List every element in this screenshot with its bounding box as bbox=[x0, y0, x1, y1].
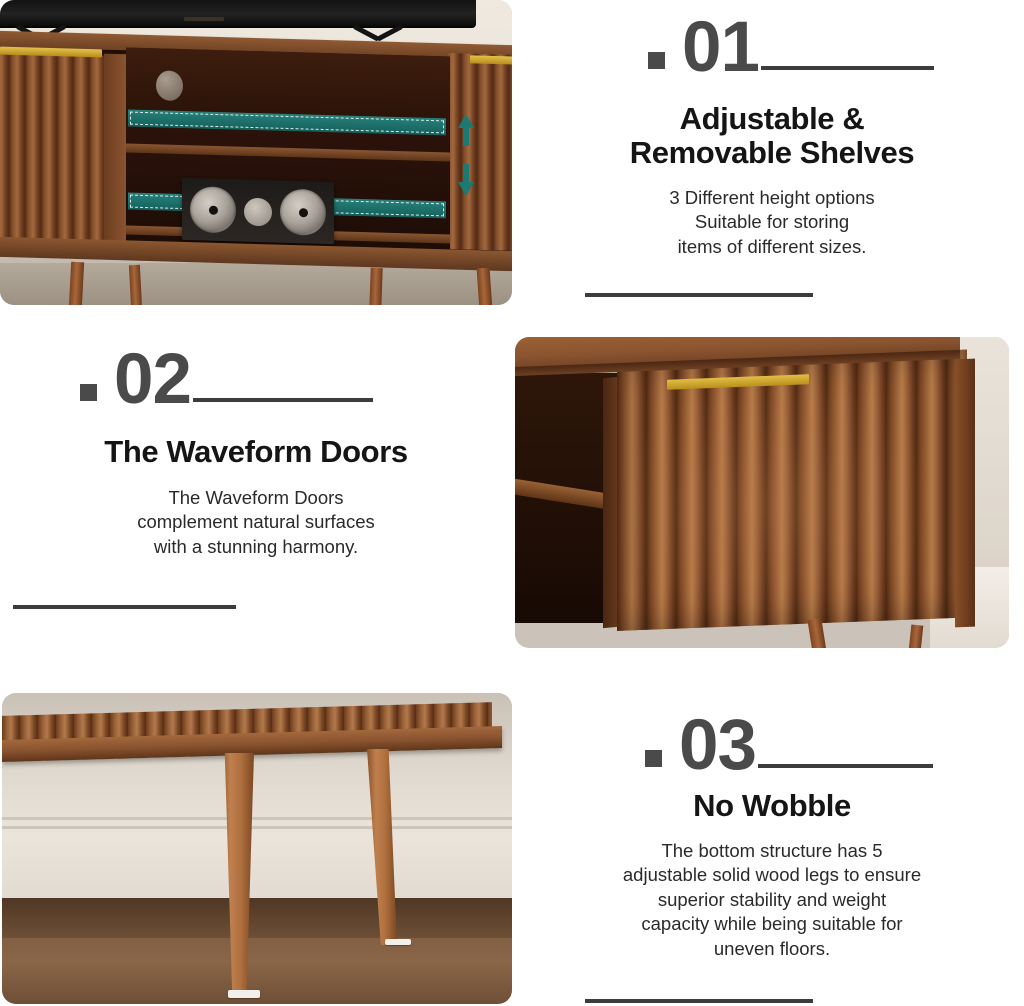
body-line-2: Suitable for storing bbox=[520, 210, 1024, 235]
television bbox=[0, 0, 476, 28]
cabinet-leg bbox=[369, 268, 382, 305]
feature-text-01: 01 Adjustable & Removable Shelves 3 Diff… bbox=[520, 20, 1024, 259]
floor-shadow bbox=[2, 898, 512, 938]
feature-heading-01: Adjustable & Removable Shelves bbox=[520, 102, 1024, 168]
heading-line-1: No Wobble bbox=[520, 789, 1024, 822]
floor-protector-pad bbox=[228, 990, 260, 998]
feature-photo-01 bbox=[0, 0, 512, 305]
feature-number: 01 bbox=[682, 20, 759, 75]
feature-photo-03 bbox=[2, 693, 512, 1004]
feature-divider-02 bbox=[13, 605, 236, 609]
cabinet-right-frame bbox=[955, 359, 975, 628]
feature-number: 02 bbox=[114, 352, 191, 407]
body-line-4: capacity while being suitable for bbox=[520, 912, 1024, 937]
fluted-door-left bbox=[0, 52, 104, 251]
heading-line-1: The Waveform Doors bbox=[0, 435, 512, 468]
cabinet-leg bbox=[909, 624, 924, 648]
wood-floor bbox=[2, 898, 512, 1004]
feature-number-row-03: 03 bbox=[520, 718, 1024, 773]
body-line-3: with a stunning harmony. bbox=[0, 535, 512, 560]
infographic-sheet: 01 Adjustable & Removable Shelves 3 Diff… bbox=[0, 0, 1024, 1006]
feature-heading-03: No Wobble bbox=[520, 789, 1024, 822]
cabinet-leg bbox=[69, 262, 84, 305]
speaker-driver-right bbox=[280, 189, 326, 236]
body-line-3: items of different sizes. bbox=[520, 235, 1024, 260]
body-line-2: complement natural surfaces bbox=[0, 510, 512, 535]
square-bullet-icon bbox=[648, 52, 665, 69]
photo-scene-shelves bbox=[0, 0, 512, 305]
heading-line-2: Removable Shelves bbox=[520, 136, 1024, 169]
cable-grommet-icon bbox=[156, 70, 183, 101]
body-line-3: superior stability and weight bbox=[520, 888, 1024, 913]
wood-shelf-upper bbox=[126, 143, 450, 161]
wall-moulding bbox=[2, 826, 512, 829]
feature-body-03: The bottom structure has 5 adjustable so… bbox=[520, 839, 1024, 962]
number-rule bbox=[758, 764, 933, 768]
number-rule bbox=[193, 398, 373, 402]
speaker-tweeter bbox=[244, 198, 272, 227]
wall-moulding bbox=[2, 817, 512, 820]
speaker-driver-left bbox=[190, 186, 236, 233]
floor-protector-pad bbox=[385, 939, 411, 945]
body-line-1: The bottom structure has 5 bbox=[520, 839, 1024, 864]
square-bullet-icon bbox=[80, 384, 97, 401]
feature-photo-02 bbox=[515, 337, 1009, 648]
feature-number: 03 bbox=[679, 718, 756, 773]
feature-number-row-02: 02 bbox=[0, 352, 512, 407]
square-bullet-icon bbox=[645, 750, 662, 767]
feature-text-02: 02 The Waveform Doors The Waveform Doors… bbox=[0, 352, 512, 559]
tv-port-icon bbox=[184, 17, 224, 21]
feature-divider-01 bbox=[585, 293, 813, 297]
feature-body-02: The Waveform Doors complement natural su… bbox=[0, 486, 512, 560]
body-line-2: adjustable solid wood legs to ensure bbox=[520, 863, 1024, 888]
center-channel-speaker bbox=[182, 178, 334, 244]
shelf-adjust-arrows-icon bbox=[455, 112, 477, 198]
gold-handle-right bbox=[470, 55, 512, 64]
wood-grain bbox=[617, 350, 967, 631]
feature-divider-03 bbox=[585, 999, 813, 1003]
feature-number-row-01: 01 bbox=[520, 20, 1024, 75]
door-edge-panel bbox=[104, 54, 126, 251]
feature-text-03: 03 No Wobble The bottom structure has 5 … bbox=[520, 718, 1024, 962]
body-line-5: uneven floors. bbox=[520, 937, 1024, 962]
feature-body-01: 3 Different height options Suitable for … bbox=[520, 186, 1024, 260]
photo-scene-legs bbox=[2, 693, 512, 1004]
photo-scene-waveform-door bbox=[515, 337, 1009, 648]
number-rule bbox=[761, 66, 934, 70]
body-line-1: 3 Different height options bbox=[520, 186, 1024, 211]
feature-heading-02: The Waveform Doors bbox=[0, 435, 512, 468]
waveform-door bbox=[617, 350, 967, 631]
body-line-1: The Waveform Doors bbox=[0, 486, 512, 511]
cabinet-leg bbox=[129, 265, 142, 305]
heading-line-1: Adjustable & bbox=[520, 102, 1024, 135]
